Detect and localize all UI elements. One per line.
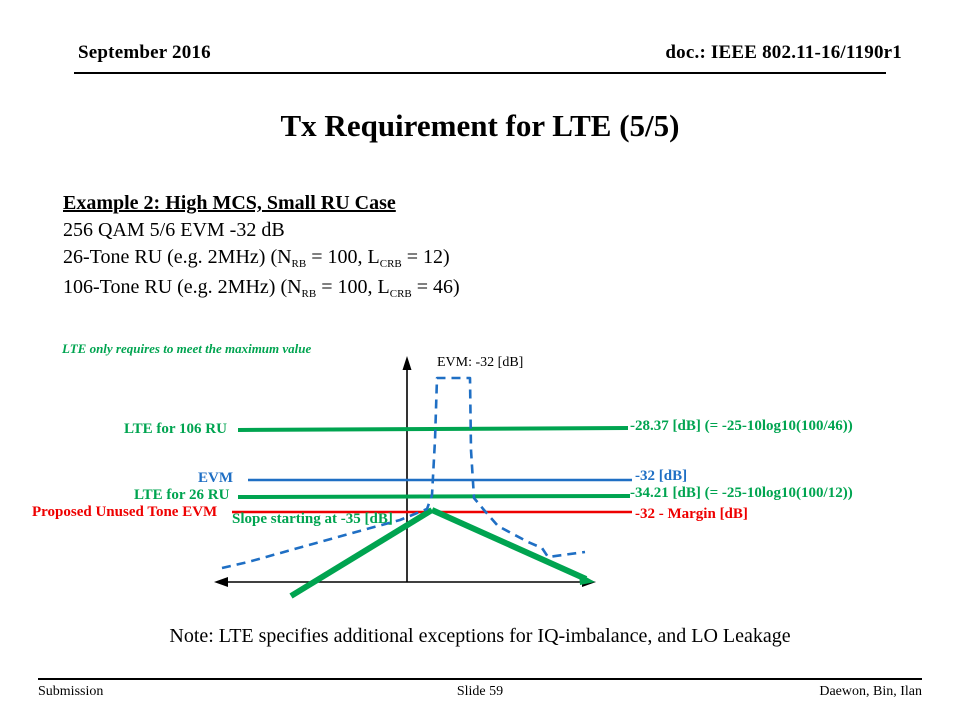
body-line-3-sub-crb: CRB	[390, 288, 412, 300]
evm-mask-chart	[0, 330, 960, 610]
body-line-3-part-c: = 46)	[412, 276, 460, 298]
chart-value-evm: -32 [dB]	[635, 468, 687, 485]
chart-label-proposed-unused-tone-evm: Proposed Unused Tone EVM	[32, 504, 217, 521]
body-text-block: Example 2: High MCS, Small RU Case 256 Q…	[63, 190, 460, 304]
chart-value-lte-106-ru: -28.37 [dB] (= -25-10log10(100/46))	[630, 418, 853, 435]
footer-slide-number: Slide 59	[0, 684, 960, 700]
series-line-lte-106	[238, 428, 628, 430]
chart-value-lte-26-ru: -34.21 [dB] (= -25-10log10(100/12))	[630, 485, 853, 502]
note-text: Note: LTE specifies additional exception…	[0, 625, 960, 648]
body-line-2-sub-rb: RB	[292, 258, 307, 270]
body-heading: Example 2: High MCS, Small RU Case	[63, 190, 460, 217]
body-line-2-part-c: = 12)	[402, 246, 450, 268]
body-line-2-part-b: = 100, L	[306, 246, 380, 268]
slide: September 2016 doc.: IEEE 802.11-16/1190…	[0, 0, 960, 720]
chart-label-lte-106-ru: LTE for 106 RU	[124, 421, 227, 438]
header-divider	[74, 72, 886, 74]
chart-annotation-slope: Slope starting at -35 [dB]	[232, 511, 393, 528]
series-line-lte-26	[238, 496, 630, 497]
header-date: September 2016	[78, 42, 211, 64]
footer-authors: Daewon, Bin, Ilan	[819, 684, 922, 700]
body-line-2: 26-Tone RU (e.g. 2MHz) (NRB = 100, LCRB …	[63, 244, 460, 274]
page-title: Tx Requirement for LTE (5/5)	[0, 108, 960, 144]
body-line-3-part-a: 106-Tone RU (e.g. 2MHz) (N	[63, 276, 302, 298]
body-line-2-sub-crb: CRB	[380, 258, 402, 270]
chart-x-axis	[214, 577, 596, 587]
body-line-3-sub-rb: RB	[302, 288, 317, 300]
chart-annotation-lte-note: LTE only requires to meet the maximum va…	[62, 341, 311, 357]
header-document-id: doc.: IEEE 802.11-16/1190r1	[665, 42, 902, 64]
body-line-2-part-a: 26-Tone RU (e.g. 2MHz) (N	[63, 246, 292, 268]
footer-divider	[38, 678, 922, 680]
body-line-1: 256 QAM 5/6 EVM -32 dB	[63, 217, 460, 244]
body-line-3-part-b: = 100, L	[316, 276, 390, 298]
chart-annotation-evm-top: EVM: -32 [dB]	[437, 355, 523, 371]
chart-label-evm: EVM	[198, 470, 233, 487]
body-line-3: 106-Tone RU (e.g. 2MHz) (NRB = 100, LCRB…	[63, 274, 460, 304]
series-dashed-spectrum	[222, 378, 585, 568]
chart-label-lte-26-ru: LTE for 26 RU	[134, 487, 229, 504]
chart-y-axis	[403, 356, 412, 582]
chart-value-proposed-margin: -32 - Margin [dB]	[635, 506, 748, 523]
